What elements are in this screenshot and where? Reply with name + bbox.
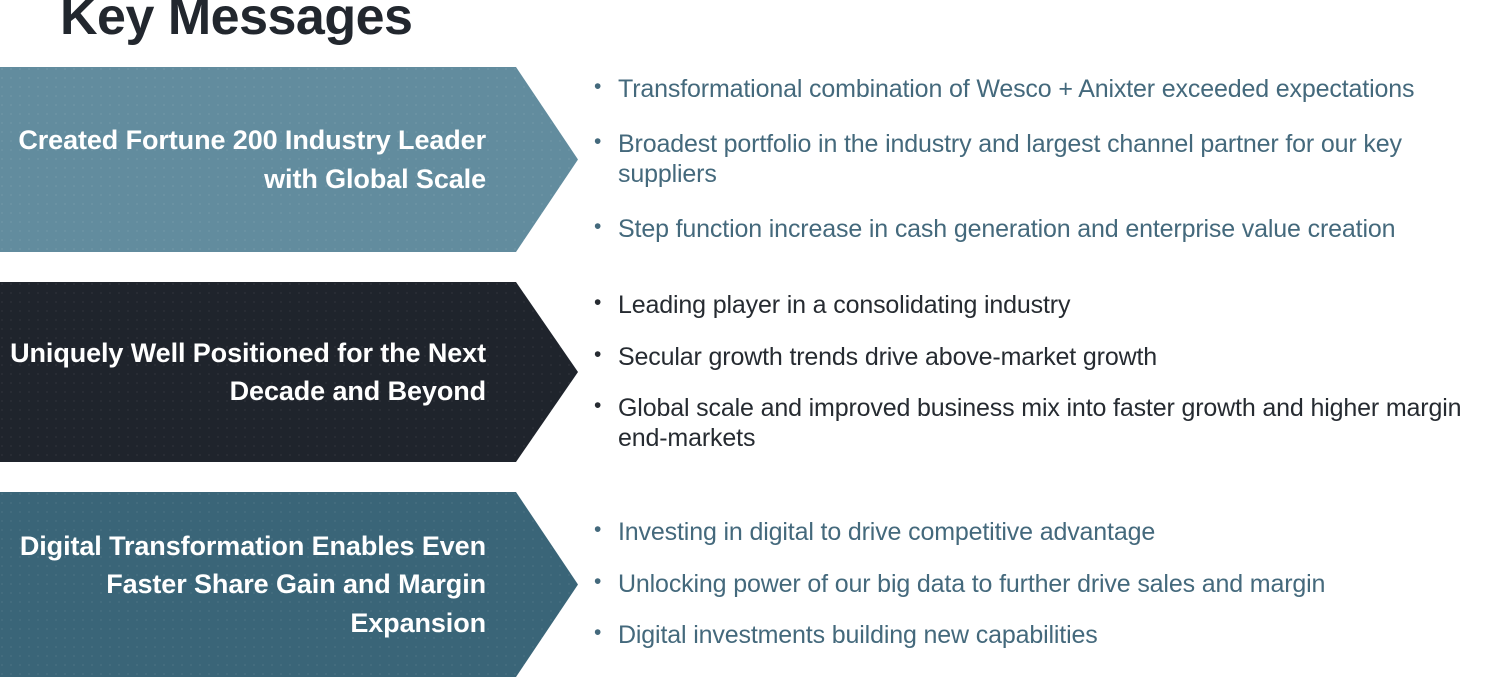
list-item: Broadest portfolio in the industry and l… <box>592 130 1493 189</box>
arrow-banner-3: Digital Transformation Enables Even Fast… <box>0 492 578 677</box>
page-title: Key Messages <box>60 0 412 48</box>
arrow-banner-label-3: Digital Transformation Enables Even Fast… <box>0 527 486 642</box>
list-item: Investing in digital to drive competitiv… <box>592 518 1493 548</box>
arrow-banner-label-1: Created Fortune 200 Industry Leader with… <box>0 121 486 198</box>
arrow-banner-1: Created Fortune 200 Industry Leader with… <box>0 67 578 252</box>
bullet-list-2: Leading player in a consolidating indust… <box>592 282 1493 462</box>
arrow-banner-2: Uniquely Well Positioned for the Next De… <box>0 282 578 462</box>
bullet-list-3: Investing in digital to drive competitiv… <box>592 492 1493 677</box>
list-item: Step function increase in cash generatio… <box>592 215 1493 245</box>
key-message-row-2: Uniquely Well Positioned for the Next De… <box>0 282 1493 462</box>
list-item: Global scale and improved business mix i… <box>592 394 1493 453</box>
list-item: Transformational combination of Wesco + … <box>592 75 1493 105</box>
list-item: Digital investments building new capabil… <box>592 621 1493 651</box>
list-item: Leading player in a consolidating indust… <box>592 291 1493 321</box>
list-item: Secular growth trends drive above-market… <box>592 343 1493 373</box>
list-item: Unlocking power of our big data to furth… <box>592 570 1493 600</box>
key-message-row-1: Created Fortune 200 Industry Leader with… <box>0 67 1493 252</box>
key-message-row-3: Digital Transformation Enables Even Fast… <box>0 492 1493 677</box>
arrow-banner-label-2: Uniquely Well Positioned for the Next De… <box>0 334 486 411</box>
bullet-list-1: Transformational combination of Wesco + … <box>592 67 1493 252</box>
slide-canvas: Key Messages Created Fortune 200 Industr… <box>0 0 1493 677</box>
